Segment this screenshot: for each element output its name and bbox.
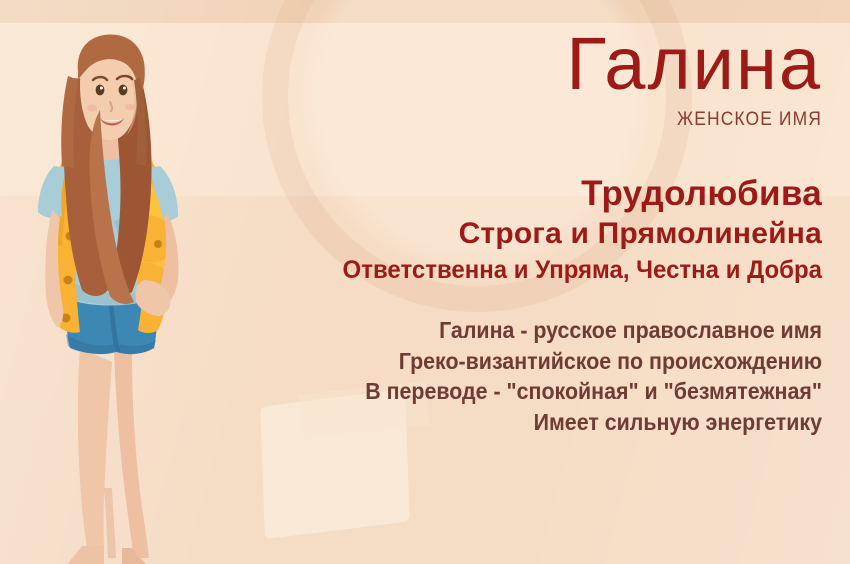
trait-line-3: Ответственна и Упряма, Честна и Добра xyxy=(236,256,822,286)
eye-right-highlight xyxy=(123,87,126,90)
leg-shading xyxy=(104,488,116,558)
eye-left xyxy=(96,85,105,96)
description-line-2: Греко-византийское по происхождению xyxy=(255,346,822,377)
description-line-4: Имеет сильную энергетику xyxy=(255,407,822,438)
eye-left-highlight xyxy=(100,87,103,90)
page-subtitle: ЖЕНСКОЕ ИМЯ xyxy=(261,109,822,131)
backpack-stud-top xyxy=(154,240,162,248)
description-block: Галина - русское православное имя Греко-… xyxy=(212,315,822,437)
description-line-1: Галина - русское православное имя xyxy=(255,315,822,346)
traits-block: Трудолюбива Строга и Прямолинейна Ответс… xyxy=(212,173,822,285)
blush-left xyxy=(87,105,97,112)
text-content-column: Галина ЖЕНСКОЕ ИМЯ Трудолюбива Строга и … xyxy=(212,0,822,437)
leg-right xyxy=(114,348,149,558)
description-line-3: В переводе - "спокойная" и "безмятежная" xyxy=(255,376,822,407)
blush-right xyxy=(125,104,135,111)
foot-left xyxy=(68,546,104,564)
trait-line-1: Трудолюбива xyxy=(212,173,822,214)
girl-illustration xyxy=(8,18,222,564)
trait-line-2: Строга и Прямолинейна xyxy=(212,216,822,251)
name-infographic-card: Галина ЖЕНСКОЕ ИМЯ Трудолюбива Строга и … xyxy=(0,0,850,564)
page-title: Галина xyxy=(212,0,822,103)
eye-right xyxy=(119,85,128,96)
vest-button-middle xyxy=(64,276,73,285)
